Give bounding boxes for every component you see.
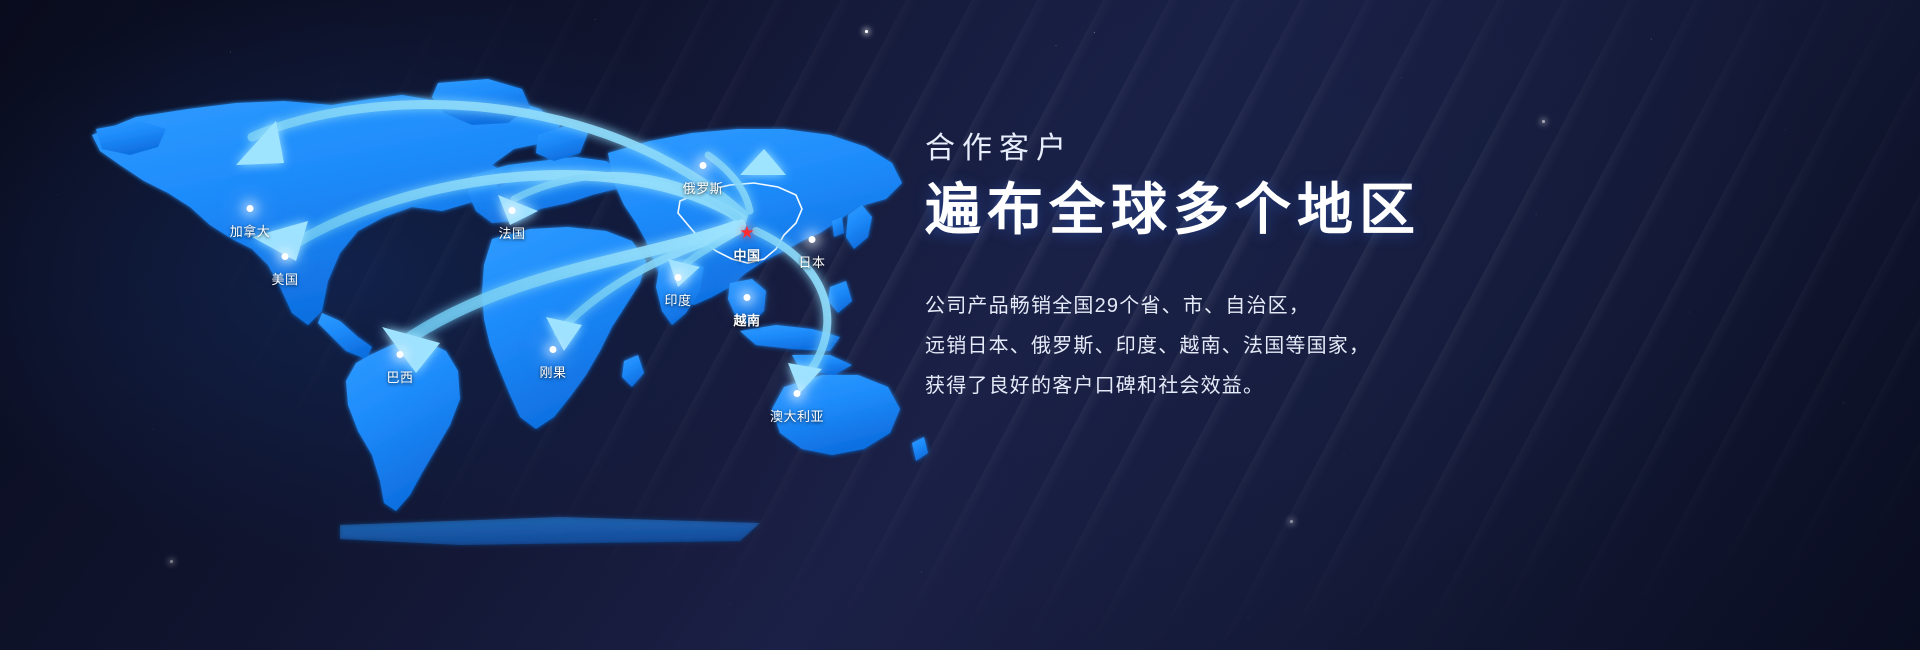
partner-distribution-banner: 加拿大美国巴西法国刚果俄罗斯印度★中国日本越南澳大利亚 合作客户 遍布全球多个地… bbox=[0, 0, 1920, 650]
banner-headline: 遍布全球多个地区 bbox=[925, 179, 1825, 242]
paragraph-line: 获得了良好的客户口碑和社会效益。 bbox=[925, 366, 1825, 406]
paragraph-line: 公司产品畅销全国29个省、市、自治区， bbox=[925, 286, 1825, 326]
world-map: 加拿大美国巴西法国刚果俄罗斯印度★中国日本越南澳大利亚 bbox=[40, 25, 940, 625]
banner-paragraph: 公司产品畅销全国29个省、市、自治区， 远销日本、俄罗斯、印度、越南、法国等国家… bbox=[925, 286, 1825, 406]
banner-eyebrow: 合作客户 bbox=[925, 132, 1825, 165]
bright-star-icon bbox=[1290, 520, 1293, 523]
banner-text-panel: 合作客户 遍布全球多个地区 公司产品畅销全国29个省、市、自治区， 远销日本、俄… bbox=[925, 132, 1825, 406]
world-map-svg bbox=[40, 25, 940, 625]
bright-star-icon bbox=[1542, 120, 1545, 123]
map-landmasses bbox=[92, 79, 928, 545]
paragraph-line: 远销日本、俄罗斯、印度、越南、法国等国家， bbox=[925, 326, 1825, 366]
